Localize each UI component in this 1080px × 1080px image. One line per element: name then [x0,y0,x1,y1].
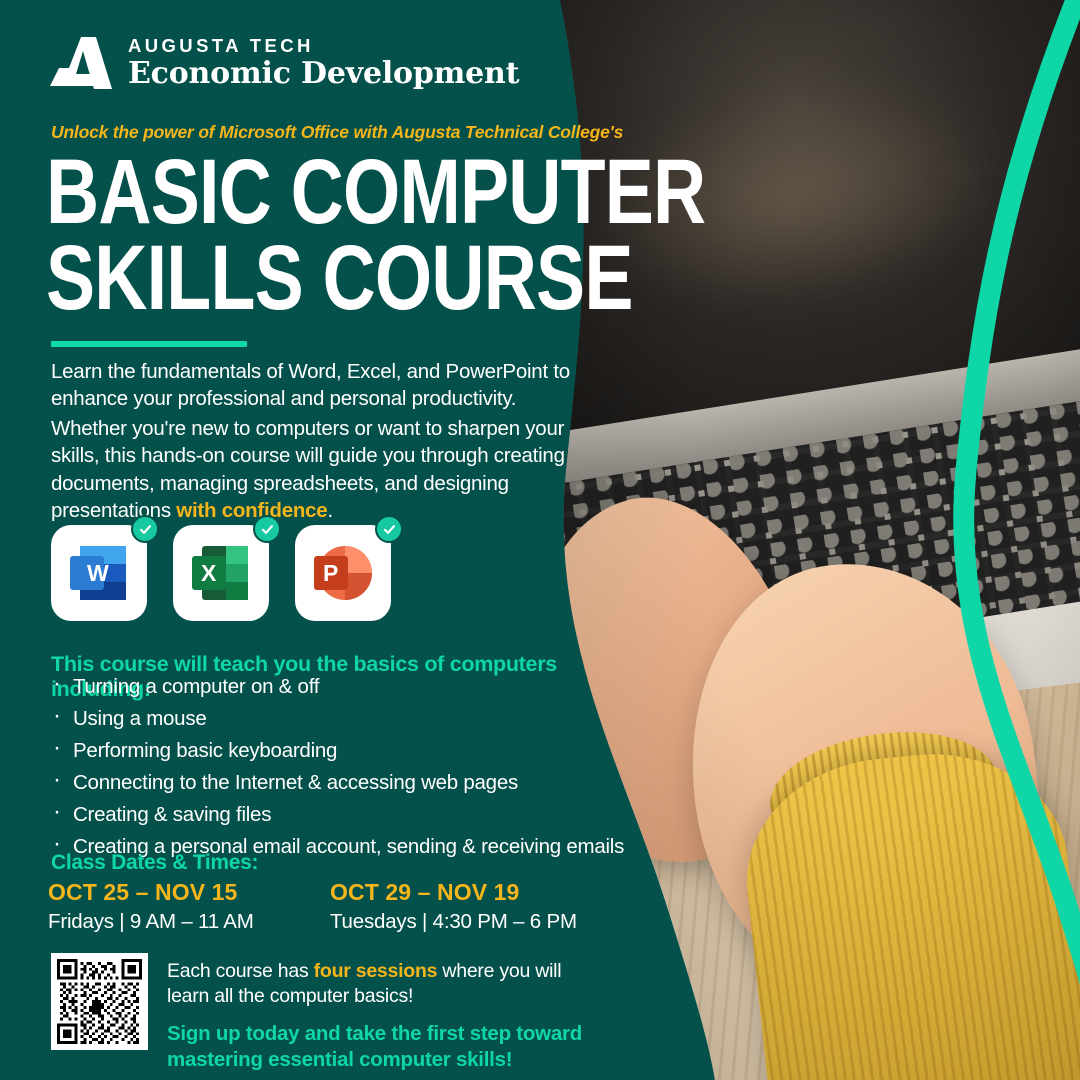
signup-note-pre: Each course has [167,960,314,982]
logo-line-1: AUGUSTA TECH [128,36,519,56]
headline-line-1: BASIC COMPUTER [46,150,526,236]
signup-note: Each course has four sessions where you … [167,959,597,1008]
list-item: Creating & saving files [51,805,651,826]
content-column: AUGUSTA TECH Economic Development Unlock… [0,0,660,1080]
powerpoint-icon: P [295,525,391,621]
svg-text:X: X [201,560,217,586]
office-app-icons: W X [51,525,391,621]
signup-note-highlight: four sessions [314,960,438,982]
list-item: Connecting to the Internet & accessing w… [51,773,651,794]
logo-line-2: Economic Development [128,58,519,90]
signup-cta: Sign up today and take the first step to… [167,1021,597,1073]
checkmark-icon [253,515,281,543]
brand-logo: AUGUSTA TECH Economic Development [50,36,519,91]
schedule-session-1: OCT 25 – NOV 15 Fridays | 9 AM – 11 AM [48,879,254,934]
page-title: BASIC COMPUTER SKILLS COURSE [46,150,526,321]
app-excel: X [173,525,269,621]
accent-rule [51,341,247,347]
schedule-session-2: OCT 29 – NOV 19 Tuesdays | 4:30 PM – 6 P… [330,879,577,934]
checkmark-icon [375,515,403,543]
body-paragraph-2: Whether you're new to computers or want … [51,415,596,524]
augusta-tech-a-mark-icon [50,37,112,89]
curriculum-list: Turning a computer on & off Using a mous… [51,677,651,869]
app-powerpoint: P [295,525,391,621]
svg-text:W: W [87,560,109,586]
session-day-time: Tuesdays | 4:30 PM – 6 PM [330,909,577,935]
body-paragraph-1: Learn the fundamentals of Word, Excel, a… [51,358,611,413]
session-date-range: OCT 29 – NOV 19 [330,879,577,907]
eyebrow-text: Unlock the power of Microsoft Office wit… [51,122,623,143]
list-item: Using a mouse [51,709,651,730]
body-paragraph-2-post: . [327,499,332,522]
list-item: Performing basic keyboarding [51,741,651,762]
checkmark-icon [131,515,159,543]
headline-line-2: SKILLS COURSE [46,236,526,322]
session-date-range: OCT 25 – NOV 15 [48,879,254,907]
session-day-time: Fridays | 9 AM – 11 AM [48,909,254,935]
svg-text:P: P [323,560,338,586]
schedule-heading: Class Dates & Times: [51,851,258,875]
excel-icon: X [173,525,269,621]
list-item: Turning a computer on & off [51,677,651,698]
word-icon: W [51,525,147,621]
poster-canvas: AUGUSTA TECH Economic Development Unlock… [0,0,1080,1080]
body-paragraph-2-highlight: with confidence [176,499,327,522]
signup-text: Each course has four sessions where you … [167,959,597,1073]
app-word: W [51,525,147,621]
qr-code-icon[interactable] [51,953,148,1050]
